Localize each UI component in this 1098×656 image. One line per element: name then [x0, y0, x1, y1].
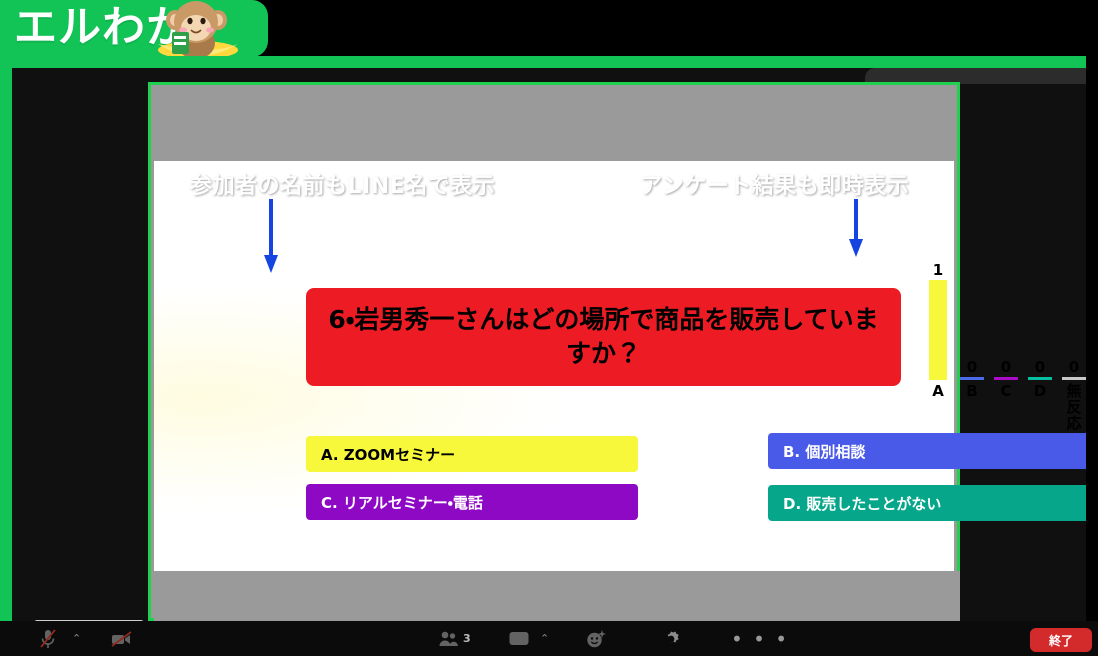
poll-option-d[interactable]: D. 販売したことがない	[768, 485, 1086, 521]
chevron-up-icon: ⌃	[540, 632, 549, 645]
poll-bar-A	[929, 280, 947, 380]
poll-bar-value-C: 0	[989, 358, 1023, 376]
meeting-toolbar: ⌃ 3 ⌃	[0, 621, 1098, 656]
settings-button[interactable]	[660, 621, 682, 656]
audio-options-chevron[interactable]: ⌃	[72, 621, 81, 656]
poll-bar-value-D: 0	[1023, 358, 1057, 376]
chat-bubble-icon	[508, 630, 530, 648]
zoom-window-body: 6・岩男秀一さんはどの場所で商品を販売していますか？ A. ZOOMセミナー C…	[12, 68, 1086, 621]
poll-bar-C	[994, 377, 1018, 380]
poll-option-a[interactable]: A. ZOOMセミナー	[306, 436, 638, 472]
more-options-icon: • • •	[731, 634, 789, 644]
poll-bar-B	[960, 377, 984, 380]
annotation-left-arrow-icon	[264, 199, 278, 275]
poll-option-b-label: B. 個別相談	[783, 441, 865, 462]
chat-button[interactable]	[508, 621, 530, 656]
zoom-window-frame: 6・岩男秀一さんはどの場所で商品を販売していますか？ A. ZOOMセミナー C…	[0, 56, 1086, 621]
more-options-button[interactable]: • • •	[731, 621, 789, 656]
reactions-button[interactable]	[585, 621, 607, 656]
poll-category-A: A	[921, 383, 955, 399]
chevron-up-icon: ⌃	[72, 632, 81, 645]
poll-results-chart: 1A0B0C0D0無反応	[913, 268, 1086, 433]
poll-option-d-label: D. 販売したことがない	[783, 493, 941, 514]
shared-screen-area: 6・岩男秀一さんはどの場所で商品を販売していますか？ A. ZOOMセミナー C…	[148, 82, 960, 621]
annotation-right-arrow-icon	[849, 199, 863, 259]
poll-option-b[interactable]: B. 個別相談	[768, 433, 1086, 469]
monkey-mascot-icon	[150, 0, 246, 60]
annotation-left-text: 参加者の名前もLINE名で表示	[190, 168, 495, 200]
brand-header: エルわか	[0, 0, 1098, 58]
participants-icon	[438, 630, 460, 648]
poll-bar-value-B: 0	[955, 358, 989, 376]
reactions-icon	[585, 629, 607, 649]
poll-option-c-label: C. リアルセミナー・電話	[321, 492, 483, 513]
gear-icon	[660, 628, 682, 650]
video-muted-icon	[110, 630, 134, 648]
poll-option-c[interactable]: C. リアルセミナー・電話	[306, 484, 638, 520]
leave-meeting-button[interactable]: 終了	[1030, 628, 1092, 652]
poll-category-B: B	[955, 383, 989, 399]
microphone-muted-icon	[38, 628, 58, 650]
poll-bar-value-無反応: 0	[1057, 358, 1086, 376]
share-top-band	[151, 85, 957, 161]
participants-button[interactable]: 3	[438, 621, 471, 656]
poll-bar-value-A: 1	[921, 261, 955, 279]
chat-options-chevron[interactable]: ⌃	[540, 621, 549, 656]
mute-audio-button[interactable]	[38, 621, 58, 656]
stop-video-button[interactable]	[110, 621, 134, 656]
share-bottom-band	[154, 571, 960, 621]
poll-category-D: D	[1023, 383, 1057, 399]
poll-bar-D	[1028, 377, 1052, 380]
poll-category-無反応: 無反応	[1057, 383, 1086, 431]
poll-question-banner: 6・岩男秀一さんはどの場所で商品を販売していますか？	[306, 288, 901, 386]
poll-question-text: 6・岩男秀一さんはどの場所で商品を販売していますか？	[322, 303, 885, 371]
poll-option-a-label: A. ZOOMセミナー	[321, 444, 455, 465]
app-root: エルわか	[0, 0, 1098, 656]
annotation-right-text: アンケート結果も即時表示	[640, 168, 909, 200]
poll-bar-無反応	[1062, 377, 1086, 380]
poll-category-C: C	[989, 383, 1023, 399]
participants-count: 3	[463, 632, 471, 645]
